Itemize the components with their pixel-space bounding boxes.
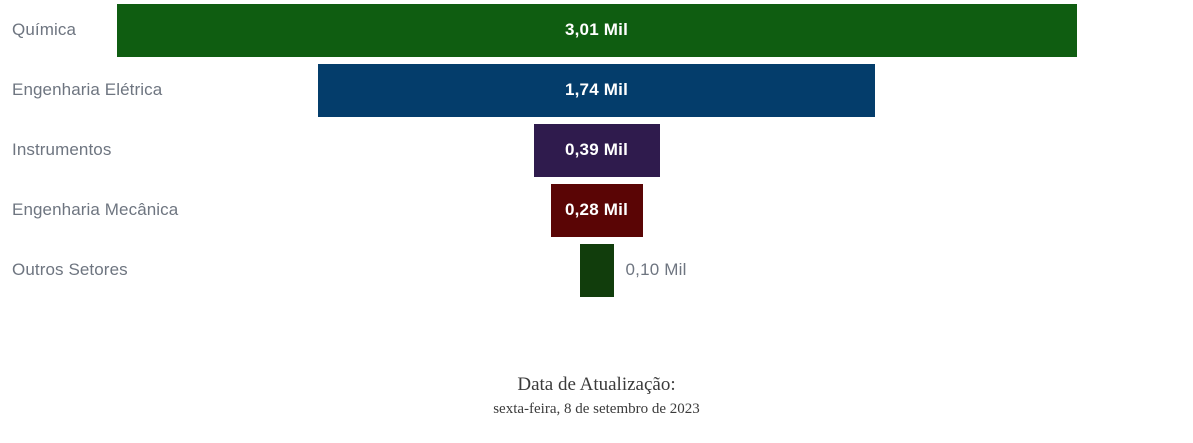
bar-value-label: 0,39 Mil	[565, 140, 628, 160]
bar-value-label: 0,10 Mil	[626, 260, 687, 280]
bar-area: 3,01 Mil	[0, 0, 1193, 60]
bar-area: 0,28 Mil	[0, 180, 1193, 240]
update-date-title: Data de Atualização:	[0, 372, 1193, 398]
bar-wrap: 0,39 Mil	[534, 124, 660, 177]
funnel-bar[interactable]: 0,28 Mil	[551, 184, 643, 237]
funnel-row[interactable]: Engenharia Elétrica 1,74 Mil	[0, 60, 1193, 120]
footer: Data de Atualização: sexta-feira, 8 de s…	[0, 372, 1193, 420]
funnel-chart: Química 3,01 Mil Engenharia Elétrica 1,7…	[0, 0, 1193, 443]
bar-value-label: 0,28 Mil	[565, 200, 628, 220]
funnel-bar[interactable]: 0,10 Mil	[580, 244, 614, 297]
bar-area: 0,39 Mil	[0, 120, 1193, 180]
bar-wrap: 1,74 Mil	[318, 64, 875, 117]
funnel-rows: Química 3,01 Mil Engenharia Elétrica 1,7…	[0, 0, 1193, 300]
bar-area: 1,74 Mil	[0, 60, 1193, 120]
funnel-row[interactable]: Química 3,01 Mil	[0, 0, 1193, 60]
funnel-bar[interactable]: 3,01 Mil	[117, 4, 1077, 57]
bar-area: 0,10 Mil	[0, 240, 1193, 300]
bar-value-label: 3,01 Mil	[565, 20, 628, 40]
bar-wrap: 3,01 Mil	[117, 4, 1077, 57]
funnel-row[interactable]: Outros Setores 0,10 Mil	[0, 240, 1193, 300]
funnel-row[interactable]: Engenharia Mecânica 0,28 Mil	[0, 180, 1193, 240]
funnel-bar[interactable]: 0,39 Mil	[534, 124, 660, 177]
bar-wrap: 0,28 Mil	[551, 184, 643, 237]
bar-wrap: 0,10 Mil	[580, 244, 614, 297]
update-date-value: sexta-feira, 8 de setembro de 2023	[0, 398, 1193, 420]
funnel-bar[interactable]: 1,74 Mil	[318, 64, 875, 117]
bar-value-label: 1,74 Mil	[565, 80, 628, 100]
funnel-row[interactable]: Instrumentos 0,39 Mil	[0, 120, 1193, 180]
